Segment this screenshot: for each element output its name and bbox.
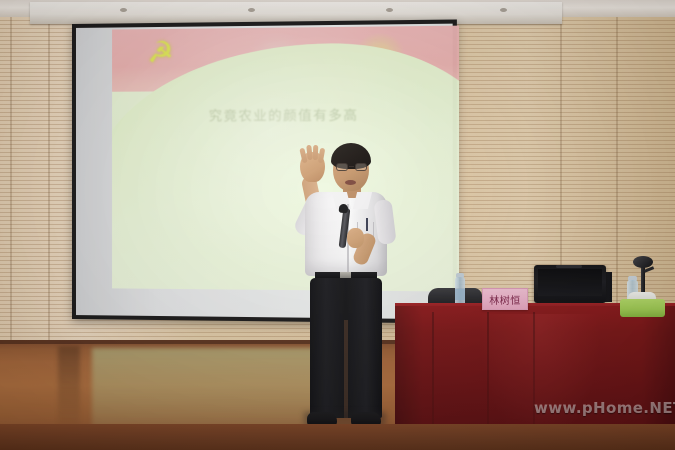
laptop-screen	[538, 269, 602, 296]
wall-seam	[10, 0, 12, 340]
valance-screw	[120, 8, 127, 12]
hammer-and-sickle-icon: ☭	[142, 37, 178, 70]
projection-screen: ☭ 究竟农业的颜值有多高	[72, 19, 457, 323]
slide-headline: 究竟农业的颜值有多高	[112, 104, 459, 125]
floor-reflection-frame	[58, 346, 80, 430]
wall-seam	[48, 0, 50, 340]
glasses-lens	[355, 163, 367, 171]
valance-screw	[500, 8, 507, 12]
mouth	[345, 180, 356, 185]
watermark: www.pHome.NET	[534, 399, 675, 417]
leg-separation	[344, 320, 348, 418]
floor-front-strip	[0, 424, 675, 450]
valance-screw	[386, 8, 393, 12]
wall-seam	[616, 0, 618, 340]
glasses-bridge	[349, 166, 354, 167]
valance-screw	[248, 8, 255, 12]
right-hand	[347, 228, 364, 248]
screen-surface: ☭ 究竟农业的颜值有多高	[76, 24, 453, 320]
pen	[366, 218, 368, 231]
projected-slide: ☭ 究竟农业的颜值有多高	[112, 26, 459, 292]
glasses-icon	[336, 163, 367, 171]
water-bottle-label	[455, 289, 465, 300]
tissue-box	[620, 299, 665, 317]
microphone-head	[338, 203, 348, 213]
tablecloth-sheen	[480, 314, 600, 442]
nameplate: 林树恒	[482, 288, 528, 310]
glasses-lens	[336, 163, 348, 171]
photo-canvas: ☭ 究竟农业的颜值有多高	[0, 0, 675, 450]
laptop-hinge	[556, 265, 582, 268]
nameplate-text: 林树恒	[489, 292, 521, 307]
